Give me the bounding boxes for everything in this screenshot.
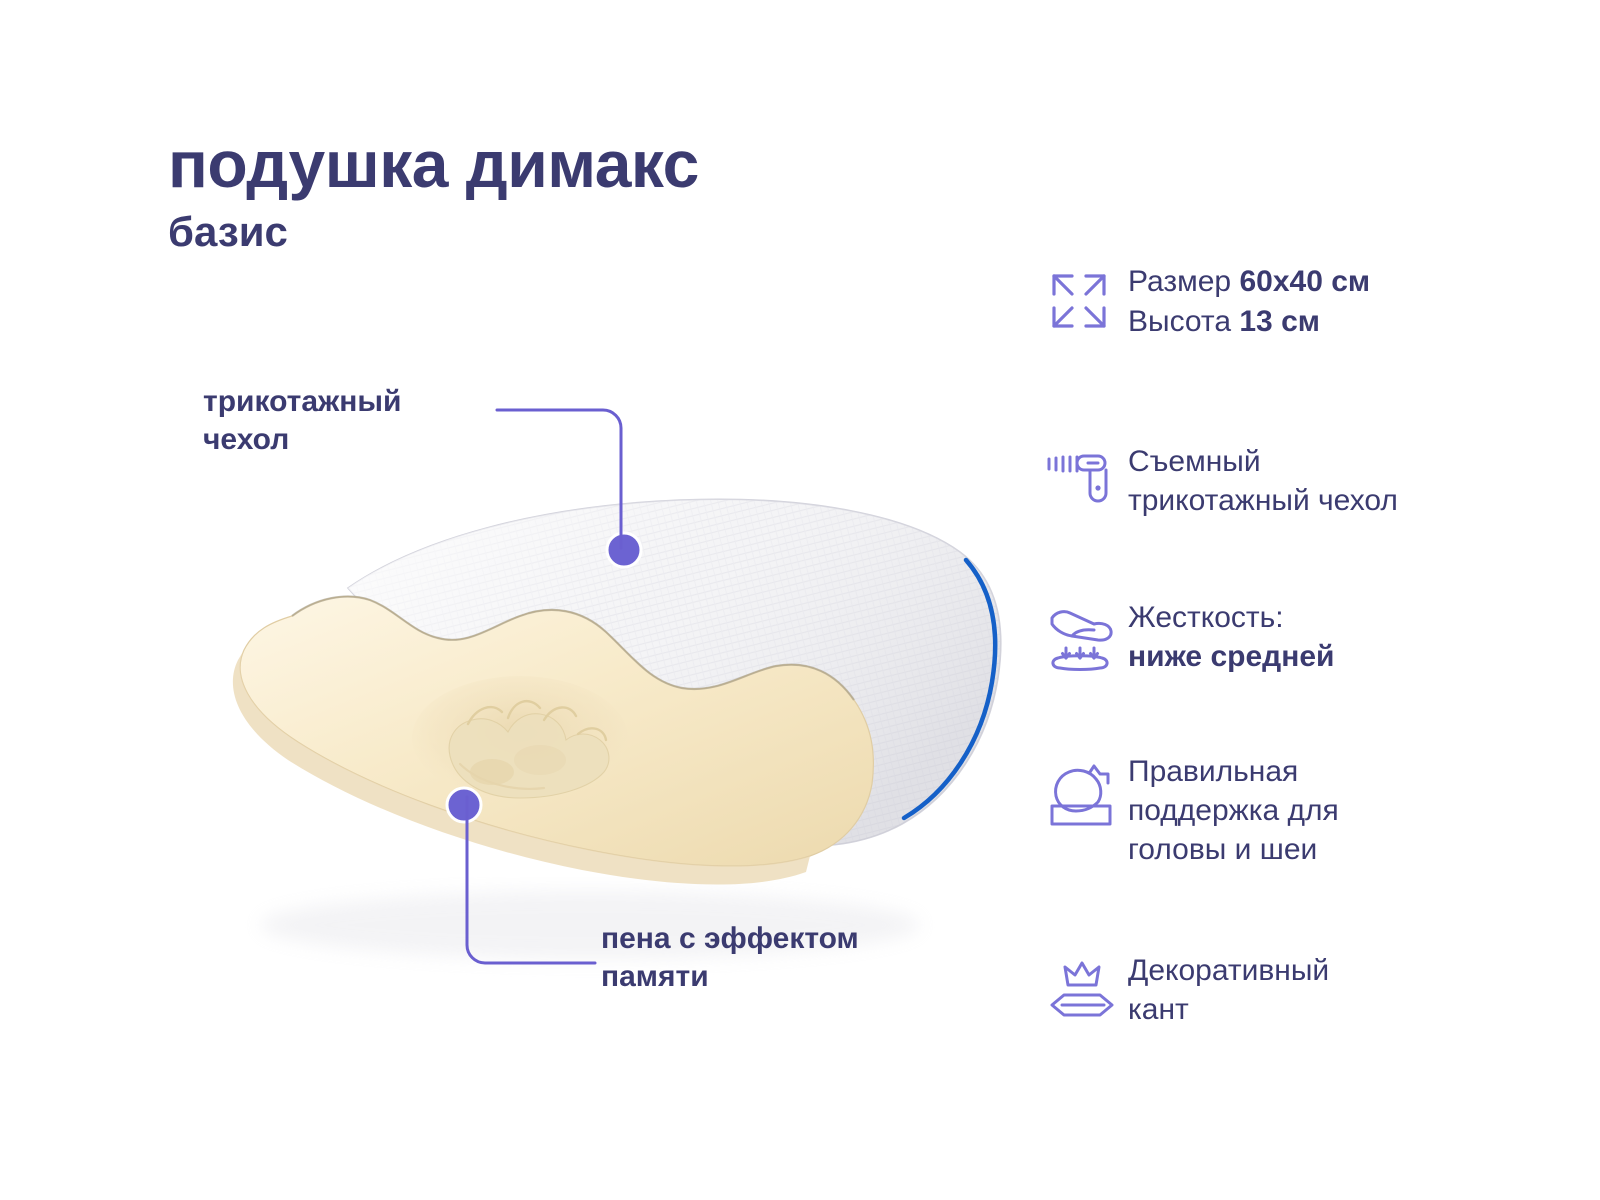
feature-piping-text: Декоративный кант (1128, 951, 1329, 1029)
feature-piping-line1: Декоративный (1128, 951, 1329, 990)
handprint-impression (412, 676, 628, 800)
callout-cover-line1: трикотажный (203, 383, 533, 421)
crown-pillow-icon (1046, 951, 1128, 1021)
feature-firmness-line1: Жесткость: (1128, 598, 1334, 637)
feature-decorative-piping: Декоративный кант (1046, 951, 1546, 1029)
title-block: подушка димакс базис (168, 131, 1028, 254)
feature-list: Размер 60x40 см Высота 13 см (1046, 262, 1546, 1029)
feature-cover-text: Съемный трикотажный чехол (1128, 442, 1398, 520)
feature-piping-line2: кант (1128, 990, 1329, 1029)
feature-removable-cover: Съемный трикотажный чехол (1046, 442, 1546, 520)
head-on-pillow-icon (1046, 752, 1128, 830)
hand-press-pillow-icon (1046, 598, 1128, 674)
page-subtitle: базис (168, 210, 1028, 254)
feature-size-text: Размер 60x40 см Высота 13 см (1128, 262, 1370, 342)
feature-support-line1: Правильная (1128, 752, 1339, 791)
feature-size: Размер 60x40 см Высота 13 см (1046, 262, 1546, 342)
feature-support-line2: поддержка для (1128, 791, 1339, 830)
feature-size-line2: Высота 13 см (1128, 302, 1370, 342)
page-title: подушка димакс (168, 131, 1028, 198)
feature-firmness-text: Жесткость: ниже средней (1128, 598, 1334, 676)
feature-support-line3: головы и шеи (1128, 830, 1339, 869)
callout-foam-line1: пена с эффектом (601, 920, 1001, 958)
feature-support-text: Правильная поддержка для головы и шеи (1128, 752, 1339, 869)
expand-arrows-icon (1046, 262, 1128, 332)
callout-connector-cover (495, 398, 655, 568)
callout-foam-line2: памяти (601, 958, 1001, 996)
callout-label-foam: пена с эффектом памяти (601, 920, 1001, 997)
feature-size-line1: Размер 60x40 см (1128, 262, 1370, 302)
callout-connector-foam (455, 795, 615, 985)
feature-firmness: Жесткость: ниже средней (1046, 598, 1546, 676)
feature-cover-line1: Съемный (1128, 442, 1398, 481)
callout-label-cover: трикотажный чехол (203, 383, 533, 460)
feature-head-neck-support: Правильная поддержка для головы и шеи (1046, 752, 1546, 869)
callout-cover-line2: чехол (203, 421, 533, 459)
infographic-page: подушка димакс базис (0, 0, 1600, 1200)
zipper-icon (1046, 442, 1128, 506)
feature-firmness-line2: ниже средней (1128, 637, 1334, 676)
feature-cover-line2: трикотажный чехол (1128, 481, 1398, 520)
